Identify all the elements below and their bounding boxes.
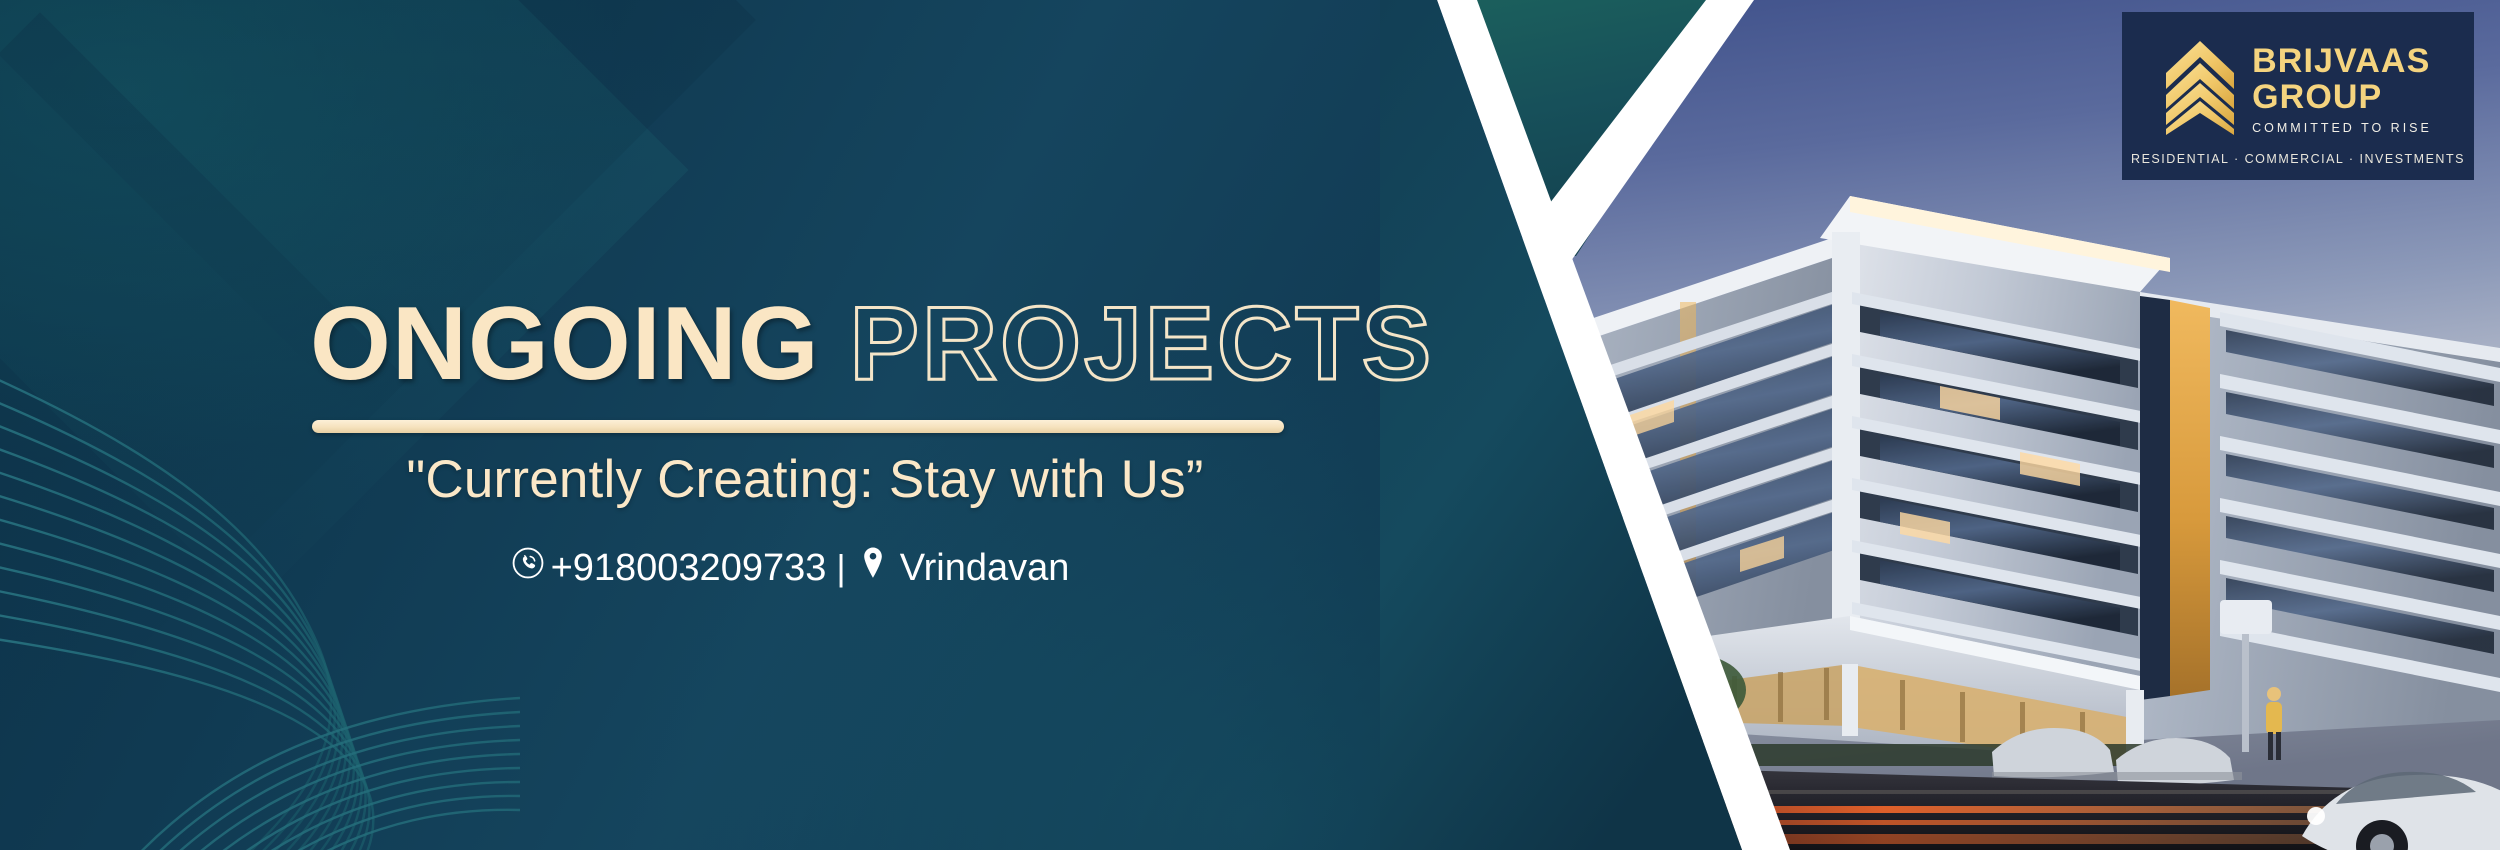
logo-wordmark: BRIJVAAS GROUP COMMITTED TO RISE (2252, 43, 2432, 136)
contact-separator: | (826, 546, 859, 590)
brand-logo[interactable]: BRIJVAAS GROUP COMMITTED TO RISE RESIDEN… (2122, 12, 2474, 180)
logo-lockup: BRIJVAAS GROUP COMMITTED TO RISE (2164, 39, 2432, 140)
phone-circle-icon (511, 546, 545, 590)
headline-content-block: ONGOING PROJECTS "Currently Creating: St… (0, 0, 1450, 850)
logo-name-line1: BRIJVAAS (2252, 43, 2430, 79)
phone-number: +918003209733 (551, 546, 827, 590)
page-title: ONGOING PROJECTS (310, 292, 1434, 396)
location-contact[interactable]: Vrindavan (860, 546, 1070, 590)
logo-name-line2: GROUP (2252, 79, 2382, 115)
contact-row: +918003209733 | Vrindavan (0, 546, 1580, 590)
headline-outline-word: PROJECTS (850, 286, 1435, 402)
headline-solid-word: ONGOING (310, 286, 820, 402)
city-name: Vrindavan (900, 546, 1070, 590)
phone-contact[interactable]: +918003209733 (511, 546, 827, 590)
map-pin-icon (860, 546, 886, 590)
logo-tagline: COMMITTED TO RISE (2252, 120, 2432, 136)
logo-services-line: RESIDENTIAL · COMMERCIAL · INVESTMENTS (2131, 152, 2465, 166)
ongoing-projects-banner: ONGOING PROJECTS "Currently Creating: St… (0, 0, 2500, 850)
chevron-stack-icon (2164, 39, 2236, 140)
title-underline-rule (312, 420, 1284, 433)
subtitle-text: "Currently Creating: Stay with Us” (0, 448, 1610, 512)
